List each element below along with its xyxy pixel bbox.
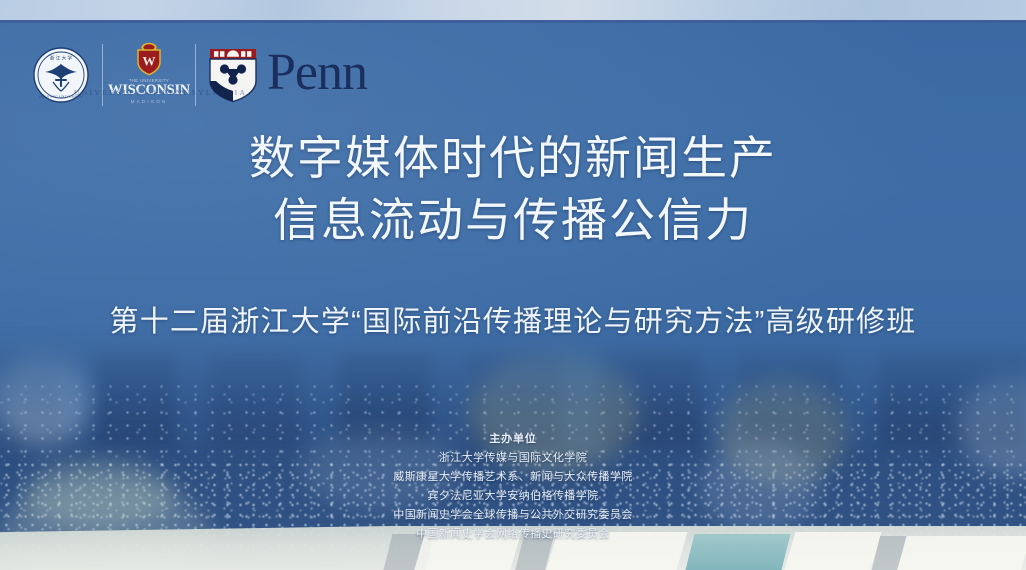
organizer-line: 威斯康星大学传播艺术系、新闻与大众传播学院: [0, 468, 1026, 487]
organizer-line: 浙江大学传媒与国际文化学院: [0, 449, 1026, 468]
penn-logo: Penn: [208, 38, 367, 112]
organizers-block: 主办单位 浙江大学传媒与国际文化学院 威斯康星大学传播艺术系、新闻与大众传播学院…: [0, 430, 1026, 543]
wisconsin-sub-text: MADISON: [131, 99, 168, 104]
partner-logo-bar: 浙 江 大 学 ZHEJIANG UNIVERSITY W THE UNIVER…: [32, 38, 367, 112]
penn-sub-text: UNIVERSITY of PENNSYLVANIA: [74, 88, 247, 97]
penn-wordmark: Penn: [267, 48, 367, 97]
page-title: 数字媒体时代的新闻生产 信息流动与传播公信力: [0, 128, 1026, 251]
page-subtitle: 第十二届浙江大学“国际前沿传播理论与研究方法”高级研修班: [0, 298, 1026, 340]
zhejiang-university-seal-icon: 浙 江 大 学 ZHEJIANG UNIVERSITY: [32, 38, 90, 112]
svg-text:W: W: [143, 54, 156, 69]
organizers-heading: 主办单位: [0, 430, 1026, 449]
title-line-2: 信息流动与传播公信力: [0, 190, 1026, 252]
sky-strip: [0, 0, 1026, 23]
title-line-1: 数字媒体时代的新闻生产: [0, 128, 1026, 190]
svg-text:浙 江 大 学: 浙 江 大 学: [50, 55, 73, 62]
organizer-line: 中国新闻史学会网络传播史研究委员会: [0, 525, 1026, 544]
organizer-line: 中国新闻史学会全球传播与公共外交研究委员会: [0, 506, 1026, 525]
organizer-line: 宾夕法尼亚大学安纳伯格传播学院: [0, 487, 1026, 506]
wisconsin-top-text: THE UNIVERSITY: [129, 78, 169, 83]
presentation-slide: 浙 江 大 学 ZHEJIANG UNIVERSITY W THE UNIVER…: [0, 0, 1026, 570]
wisconsin-crest-icon: W THE UNIVERSITY WISCONSIN MADISON: [115, 38, 183, 112]
